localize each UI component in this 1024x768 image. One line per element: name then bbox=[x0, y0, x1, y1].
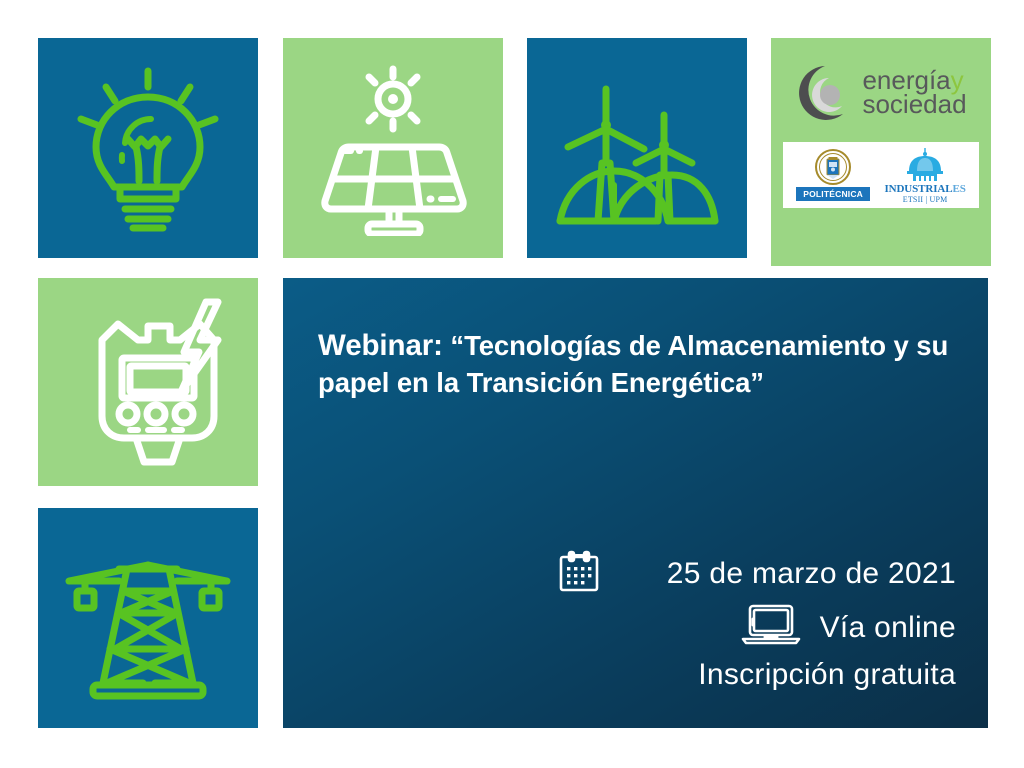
registration-text: Inscripción gratuita bbox=[698, 658, 956, 692]
tile-logos: energíay sociedad POLITÉCNICA bbox=[771, 38, 991, 266]
title-prefix: Webinar: bbox=[318, 329, 443, 362]
info-row-registration: Inscripción gratuita bbox=[320, 658, 960, 692]
tile-wind-turbines bbox=[527, 38, 747, 258]
etsii-dome-icon bbox=[899, 147, 951, 181]
event-mode-text: Vía online bbox=[820, 611, 956, 645]
concentric-circles-logo-icon bbox=[795, 64, 855, 122]
event-date-text: 25 de marzo de 2021 bbox=[667, 557, 956, 591]
politecnica-label: POLITÉCNICA bbox=[796, 187, 870, 201]
logo-line2: sociedad bbox=[862, 93, 966, 117]
upm-logos-box: POLITÉCNICA INDUSTRIALES bbox=[783, 142, 979, 208]
main-panel: Webinar: “Tecnologías de Almacenamiento … bbox=[283, 278, 988, 728]
solar-panel-sun-icon bbox=[311, 61, 476, 236]
upm-crest-icon bbox=[815, 149, 851, 185]
info-row-mode: Vía online bbox=[320, 603, 960, 652]
info-row-date: 25 de marzo de 2021 bbox=[320, 550, 960, 597]
lightbulb-icon bbox=[73, 63, 223, 233]
wind-turbines-icon bbox=[552, 63, 722, 233]
tile-electric-meter bbox=[38, 278, 258, 486]
tile-solar-panel bbox=[283, 38, 503, 258]
event-info-block: 25 de marzo de 2021 Vía online Inscripci… bbox=[320, 550, 960, 692]
energia-y-sociedad-logo: energíay sociedad bbox=[795, 64, 966, 122]
industriales-label-strong: INDUSTRIAL bbox=[884, 183, 952, 195]
page-title: Webinar: “Tecnologías de Almacenamiento … bbox=[318, 326, 968, 402]
laptop-icon bbox=[740, 603, 802, 652]
tile-lightbulb bbox=[38, 38, 258, 258]
transmission-tower-icon bbox=[63, 533, 233, 703]
industriales-logo: INDUSTRIALES ETSII | UPM bbox=[884, 147, 965, 204]
electric-meter-bolt-icon bbox=[66, 296, 231, 468]
etsii-sublabel: ETSII | UPM bbox=[903, 195, 948, 204]
calendar-icon bbox=[559, 550, 599, 597]
tile-transmission-tower bbox=[38, 508, 258, 728]
politecnica-logo: POLITÉCNICA bbox=[796, 149, 870, 201]
industriales-label-soft: ES bbox=[953, 183, 966, 195]
